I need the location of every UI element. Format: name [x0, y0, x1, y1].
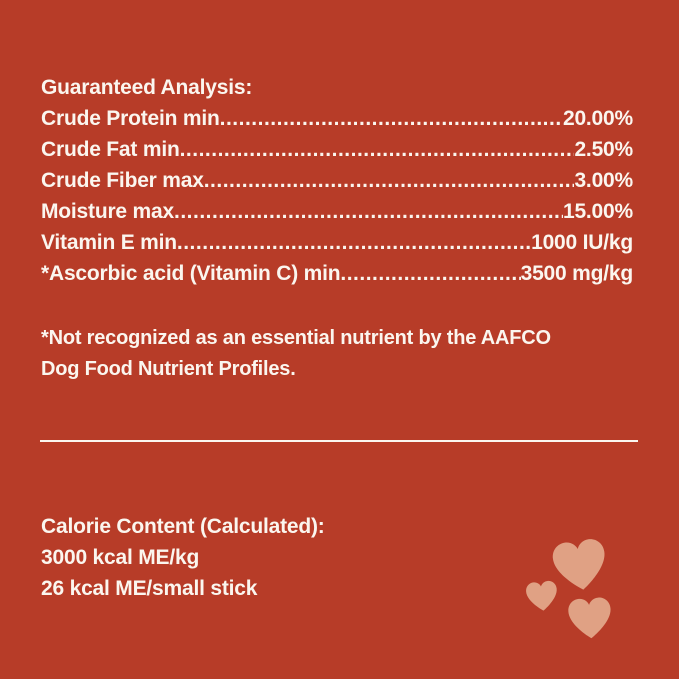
- pet-food-label-panel: Guaranteed Analysis: Crude Protein min .…: [0, 0, 679, 679]
- analysis-value: 3500 mg/kg: [521, 258, 633, 289]
- analysis-row: *Ascorbic acid (Vitamin C) min .........…: [41, 258, 633, 289]
- leader-dots: ........................................…: [204, 165, 575, 196]
- analysis-label: Moisture max: [41, 196, 174, 227]
- footnote-line-2: Dog Food Nutrient Profiles.: [41, 354, 641, 385]
- calorie-per-stick: 26 kcal ME/small stick: [41, 573, 481, 604]
- analysis-label: Vitamin E min: [41, 227, 177, 258]
- footnote-line-1: *Not recognized as an essential nutrient…: [41, 323, 641, 354]
- analysis-row: Moisture max ...........................…: [41, 196, 633, 227]
- guaranteed-analysis-heading: Guaranteed Analysis:: [41, 72, 633, 103]
- heart-icon: [567, 595, 614, 642]
- analysis-label: Crude Fat min: [41, 134, 180, 165]
- leader-dots: ........................................…: [340, 258, 520, 289]
- heart-icon: [550, 535, 611, 596]
- analysis-value: 3.00%: [574, 165, 633, 196]
- calorie-content-heading: Calorie Content (Calculated):: [41, 511, 481, 542]
- analysis-row: Crude Protein min ......................…: [41, 103, 633, 134]
- leader-dots: ........................................…: [180, 134, 575, 165]
- section-divider: [40, 440, 638, 442]
- analysis-label: Crude Fiber max: [41, 165, 204, 196]
- leader-dots: ........................................…: [220, 103, 563, 134]
- analysis-label: *Ascorbic acid (Vitamin C) min: [41, 258, 340, 289]
- leader-dots: ........................................…: [174, 196, 563, 227]
- aafco-footnote: *Not recognized as an essential nutrient…: [41, 323, 641, 385]
- calorie-content-section: Calorie Content (Calculated): 3000 kcal …: [41, 511, 481, 604]
- calorie-per-kg: 3000 kcal ME/kg: [41, 542, 481, 573]
- analysis-value: 15.00%: [563, 196, 633, 227]
- hearts-decoration: [520, 530, 630, 655]
- analysis-value: 20.00%: [563, 103, 633, 134]
- analysis-value: 1000 IU/kg: [531, 227, 633, 258]
- leader-dots: ........................................…: [177, 227, 531, 258]
- guaranteed-analysis-section: Guaranteed Analysis: Crude Protein min .…: [41, 72, 633, 289]
- analysis-row: Vitamin E min ..........................…: [41, 227, 633, 258]
- heart-icon: [524, 578, 559, 613]
- analysis-value: 2.50%: [574, 134, 633, 165]
- analysis-row: Crude Fiber max ........................…: [41, 165, 633, 196]
- analysis-row: Crude Fat min ..........................…: [41, 134, 633, 165]
- analysis-label: Crude Protein min: [41, 103, 220, 134]
